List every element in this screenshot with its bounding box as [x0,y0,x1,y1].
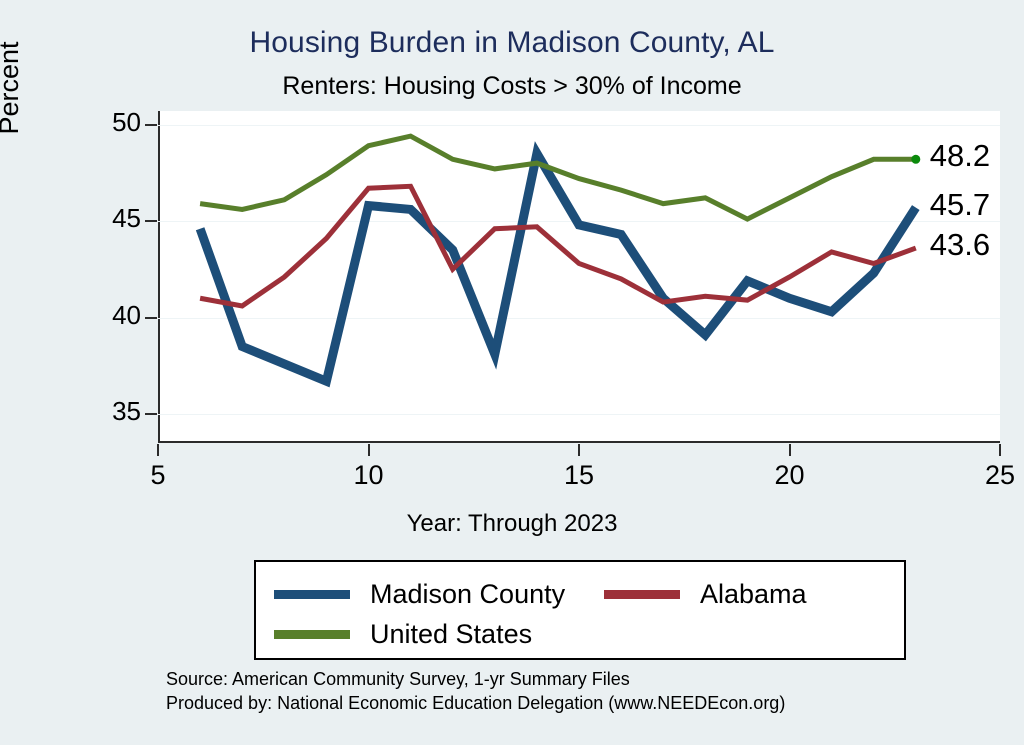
chart-footer: Source: American Community Survey, 1-yr … [166,668,785,716]
end-value-label-alabama: 43.6 [930,227,990,263]
series-line-united-states [200,136,916,219]
legend-label-madison-county: Madison County [370,581,565,608]
end-value-label-united-states: 48.2 [930,138,990,174]
end-value-label-madison-county: 45.7 [930,187,990,223]
x-axis-label: Year: Through 2023 [0,510,1024,538]
chart-subtitle: Renters: Housing Costs > 30% of Income [0,72,1024,101]
footer-produced-line: Produced by: National Economic Education… [166,692,785,716]
x-tick-label-5: 5 [150,460,165,491]
legend-label-united-states: United States [370,621,532,648]
series-end-marker-united-states [911,155,920,164]
x-tick-label-15: 15 [564,460,594,491]
legend-item-madison-county: Madison County [274,574,565,614]
legend-item-alabama: Alabama [604,574,807,614]
series-lines [158,111,1000,443]
y-axis-label: Percent [0,0,25,188]
series-line-alabama [200,186,916,306]
legend-label-alabama: Alabama [700,581,807,608]
y-tick-mark-40 [145,317,157,319]
plot-area [158,111,1000,443]
y-tick-mark-50 [145,124,157,126]
chart-figure: Housing Burden in Madison County, AL Ren… [0,0,1024,745]
x-tick-mark-5 [157,444,159,456]
x-tick-mark-25 [999,444,1001,456]
legend-swatch-united-states [274,630,350,639]
chart-legend: Madison County Alabama United States [254,560,906,660]
x-tick-label-25: 25 [985,460,1015,491]
y-tick-label-40: 40 [23,300,141,331]
x-tick-mark-10 [368,444,370,456]
legend-swatch-alabama [604,590,680,599]
x-tick-mark-20 [789,444,791,456]
y-tick-label-45: 45 [23,203,141,234]
y-tick-mark-35 [145,413,157,415]
x-tick-label-10: 10 [353,460,383,491]
legend-swatch-madison-county [274,590,350,599]
x-tick-label-20: 20 [774,460,804,491]
chart-title: Housing Burden in Madison County, AL [0,26,1024,60]
legend-item-united-states: United States [274,614,532,654]
footer-source-line: Source: American Community Survey, 1-yr … [166,668,785,692]
y-tick-label-35: 35 [23,396,141,427]
y-tick-mark-45 [145,220,157,222]
y-tick-label-50: 50 [23,107,141,138]
x-tick-mark-15 [578,444,580,456]
